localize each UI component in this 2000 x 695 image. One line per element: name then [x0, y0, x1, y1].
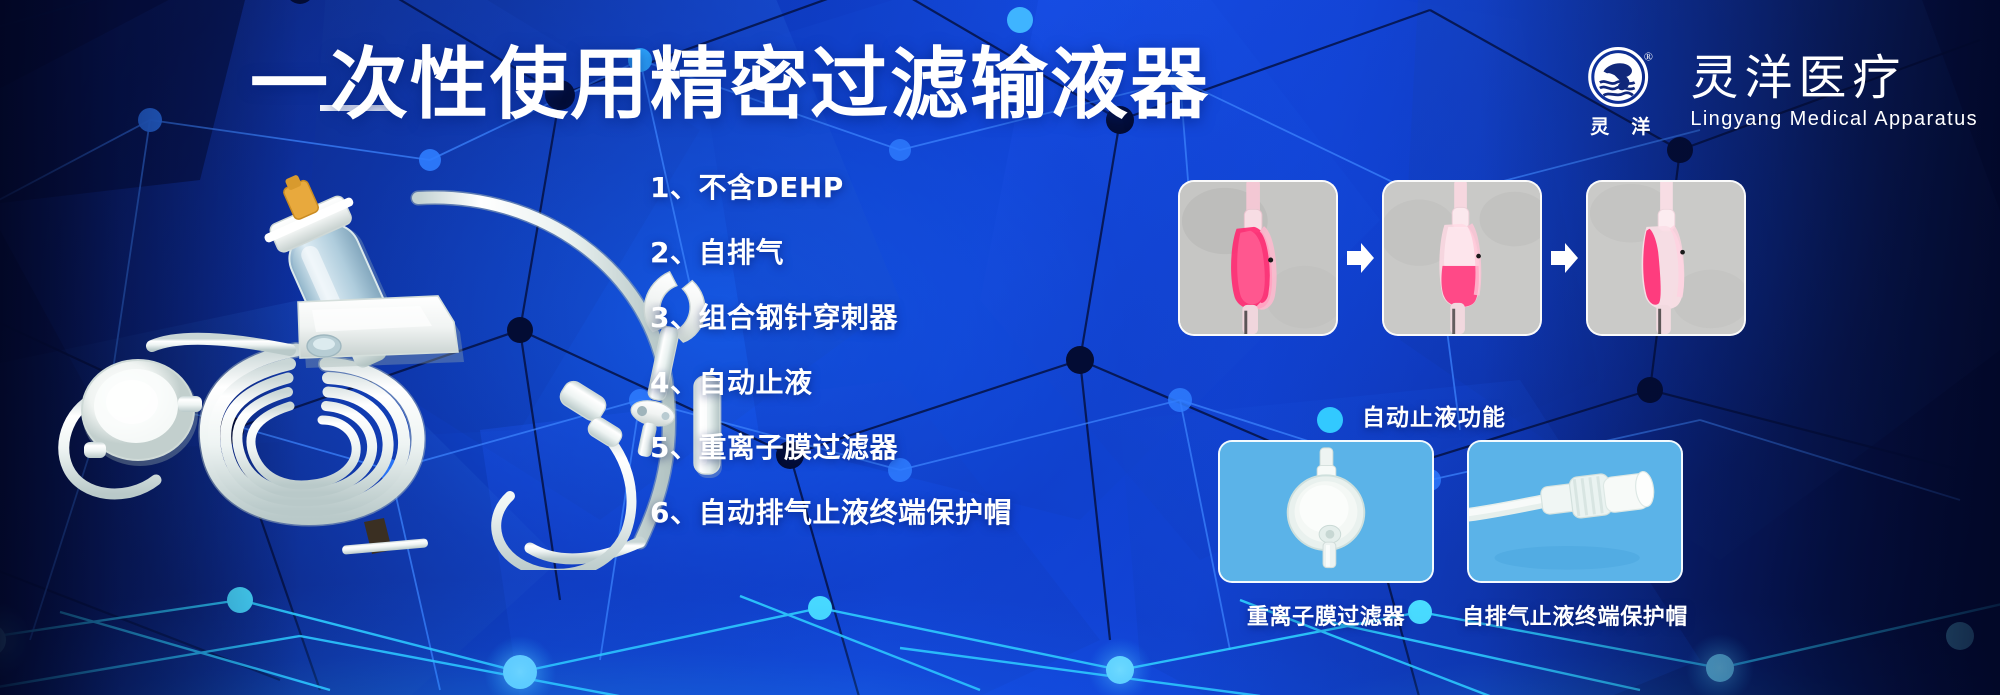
- sequence-arrow-2: [1542, 241, 1586, 275]
- emblem-wrap: ® 灵洋: [1568, 44, 1672, 139]
- tube-label-clip: [342, 518, 428, 555]
- page-title: 一次性使用精密过滤输液器: [250, 42, 1040, 128]
- filter-caption: 重离子膜过滤器: [1247, 599, 1405, 631]
- logo-text-block: 灵洋医疗 Lingyang Medical Apparatus: [1690, 53, 1978, 131]
- heavy-ion-membrane-filter-image: [1220, 442, 1432, 582]
- drip-chamber-full-photo: [1180, 182, 1336, 334]
- sequence-panel-2: [1382, 180, 1542, 336]
- drip-chamber-half-photo: [1384, 182, 1540, 334]
- brand-logo: ® 灵洋 灵洋医疗 Lingyang Medical Apparatus: [1568, 44, 1978, 139]
- feature-item-3: 3、组合钢针穿刺器: [650, 302, 980, 334]
- filter-photo: [1218, 440, 1434, 583]
- auto-stop-sequence: [1178, 180, 1746, 336]
- injection-port: [557, 378, 625, 450]
- cap-caption: 自排气止液终端保护帽: [1462, 599, 1688, 631]
- arrow-right-icon: [1549, 241, 1579, 275]
- sequence-panel-1: [1178, 180, 1338, 336]
- self-venting-protection-cap-image: [1469, 442, 1681, 582]
- company-name-en: Lingyang Medical Apparatus: [1690, 107, 1978, 131]
- sequence-arrow-1: [1338, 241, 1382, 275]
- detail-card-cap: 自排气止液终端保护帽: [1462, 440, 1688, 631]
- registered-mark: ®: [1644, 50, 1653, 64]
- product-photo: [40, 150, 740, 570]
- drip-chamber-stopped-photo: [1588, 182, 1744, 334]
- feature-item-6: 6、自动排气止液终端保护帽: [650, 497, 980, 529]
- feature-list: 1、不含DEHP 2、自排气 3、组合钢针穿刺器 4、自动止液 5、重离子膜过滤…: [650, 172, 980, 529]
- sequence-panel-3: [1586, 180, 1746, 336]
- emblem-subtext: 灵洋: [1568, 112, 1672, 139]
- feature-item-1: 1、不含DEHP: [650, 172, 980, 204]
- circular-wave-emblem-icon: ®: [1587, 44, 1653, 110]
- feature-item-4: 4、自动止液: [650, 367, 980, 399]
- detail-card-filter: 重离子膜过滤器: [1218, 440, 1434, 631]
- arrow-right-icon: [1345, 241, 1375, 275]
- feature-item-5: 5、重离子膜过滤器: [650, 432, 980, 464]
- company-name-cn: 灵洋医疗: [1690, 53, 1978, 103]
- product-banner: 一次性使用精密过滤输液器 ® 灵洋 灵洋医疗 Lingyang Medical …: [0, 0, 2000, 695]
- particulate-filter: [82, 360, 202, 466]
- protection-cap-photo: [1467, 440, 1683, 583]
- detail-cards: 重离子膜过滤器: [1218, 440, 1688, 631]
- feature-item-2: 2、自排气: [650, 237, 980, 269]
- sequence-caption: 自动止液功能: [1178, 398, 1690, 432]
- flow-regulator: [298, 296, 464, 368]
